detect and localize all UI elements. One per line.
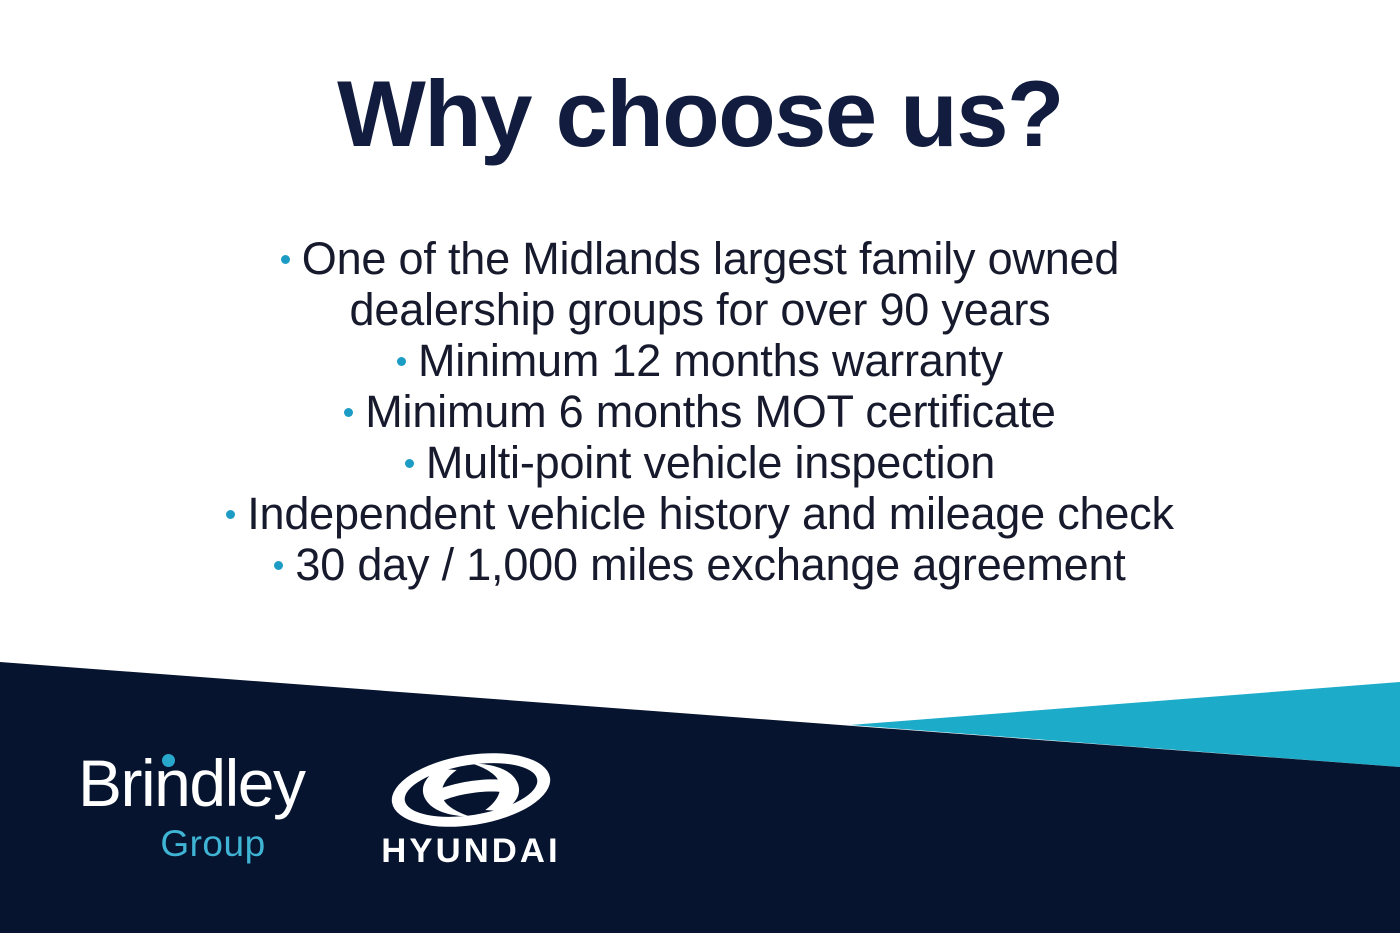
list-item: Multi-point vehicle inspection: [0, 437, 1400, 488]
list-item: 30 day / 1,000 miles exchange agreement: [0, 539, 1400, 590]
hyundai-ellipse-h-emblem-icon: [386, 752, 556, 828]
list-item-label: 30 day / 1,000 miles exchange agreement: [295, 539, 1125, 590]
list-item-label: Independent vehicle history and mileage …: [247, 488, 1174, 539]
list-item: Minimum 12 months warranty: [0, 335, 1400, 386]
hyundai-logo: HYUNDAI: [366, 752, 576, 872]
slide-canvas: Why choose us? One of the Midlands large…: [0, 0, 1400, 933]
bullet-dot-icon: [397, 357, 406, 366]
bullet-dot-icon: [274, 561, 283, 570]
benefits-list: One of the Midlands largest family owned…: [0, 233, 1400, 590]
hyundai-wordmark: HYUNDAI: [364, 832, 578, 870]
list-item-label: One of the Midlands largest family owned: [302, 233, 1119, 284]
brindley-group-subtitle: Group: [78, 824, 338, 864]
brindley-wordmark: Brindley: [78, 748, 338, 818]
page-title: Why choose us?: [0, 62, 1400, 166]
list-item-label: Multi-point vehicle inspection: [426, 437, 995, 488]
list-item-continuation: dealership groups for over 90 years: [0, 284, 1400, 335]
bullet-dot-icon: [344, 408, 353, 417]
list-item: Independent vehicle history and mileage …: [0, 488, 1400, 539]
bullet-dot-icon: [405, 459, 414, 468]
list-item-label: dealership groups for over 90 years: [350, 284, 1051, 335]
list-item-label: Minimum 6 months MOT certificate: [365, 386, 1055, 437]
list-item-label: Minimum 12 months warranty: [418, 335, 1003, 386]
bullet-dot-icon: [281, 255, 290, 264]
bullet-dot-icon: [226, 510, 235, 519]
brindley-group-logo: Brindley Group: [78, 748, 338, 878]
list-item: One of the Midlands largest family owned: [0, 233, 1400, 284]
brindley-i-dot-icon: [162, 754, 175, 767]
list-item: Minimum 6 months MOT certificate: [0, 386, 1400, 437]
